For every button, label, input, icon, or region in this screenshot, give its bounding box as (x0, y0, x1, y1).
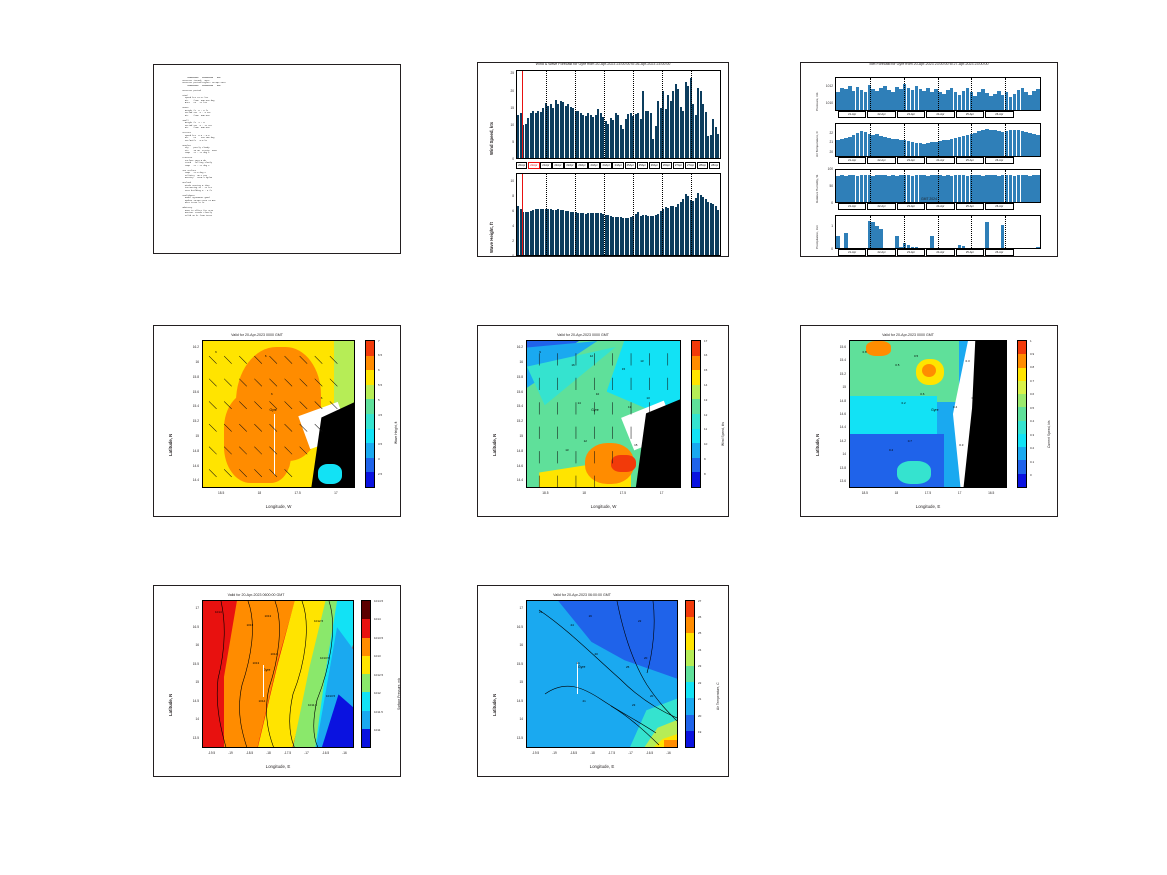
wind-wave-forecast-panel: Wind & Wave Forecast for Gyre from 20-Ap… (477, 62, 729, 257)
contour-label: 1013.5 (326, 694, 335, 698)
contour-label: 0.5 (914, 354, 918, 358)
map-xtick: -17.5 (603, 751, 621, 755)
met-daylabel: 26-Apr (985, 249, 1013, 256)
isobar-contours (203, 601, 353, 748)
day-label-2: 21Apr (540, 162, 551, 169)
map-xtick: -16 (660, 751, 678, 755)
day-separator (870, 216, 871, 248)
wave-map-xlabel: Longitude, W (202, 504, 355, 509)
forecast-bar (717, 210, 719, 255)
contour-label: 15 (622, 367, 625, 371)
map-ytick: 16.5 (496, 625, 523, 629)
colorbar-tick-label: 2.5 (378, 472, 382, 476)
colorbar-tick-label: 1012.5 (374, 673, 383, 677)
colorbar-swatch (686, 650, 694, 666)
now-marker-line-2 (522, 174, 523, 255)
axis-tick-label: 10 (478, 179, 514, 183)
contour-label: 1013 (253, 661, 260, 665)
axis-tick-label: 6 (478, 209, 514, 213)
axis-tick-label: 15 (478, 106, 514, 110)
day-separator (971, 78, 972, 110)
contour-label: 21 (577, 661, 580, 665)
day-label-4: 22Apr (564, 162, 575, 169)
colorbar-tick-label: 4 (378, 427, 380, 431)
wind-speed-axes (516, 70, 721, 159)
map-ytick: 13.5 (172, 736, 199, 740)
colorbar-swatch (366, 341, 374, 356)
met-ytick: 100 (801, 167, 833, 171)
colorbar-swatch (692, 356, 700, 371)
current-speed-colorbar (1017, 340, 1027, 488)
map-ytick: 14.5 (496, 699, 523, 703)
colorbar-swatch (366, 399, 374, 414)
day-separator (691, 71, 692, 158)
day-separator (870, 124, 871, 156)
colorbar-swatch (692, 370, 700, 385)
met-daylabel: 24-Apr (926, 203, 954, 210)
contour-label: 1013 (265, 614, 272, 618)
pressure-colorbar-title: Surface Pressure, mb (397, 678, 401, 710)
surface-pressure-colorbar (361, 600, 371, 748)
map-ytick: 14.6 (172, 464, 199, 468)
colorbar-swatch (692, 458, 700, 473)
map-xtick: -19 (546, 751, 564, 755)
wave-height-axes (516, 173, 721, 256)
wind-colorbar-title: Wind Speed, kts (721, 422, 725, 446)
wave-height-map-title: Valid for 20-Apr-2023 0000 GMT (164, 333, 350, 337)
colorbar-swatch (692, 443, 700, 458)
map-ytick: 16.2 (496, 345, 523, 349)
contour-label: 0.2 (889, 448, 893, 452)
met-ytick: 20 (801, 150, 833, 154)
map-xtick: 18.5 (856, 491, 874, 495)
day-label-9: 25Apr (625, 162, 636, 169)
map-ytick: 17 (172, 606, 199, 610)
colorbar-tick-label: 5.5 (378, 383, 382, 387)
colorbar-swatch (366, 356, 374, 371)
met-daylabel: 23-Apr (897, 111, 925, 118)
contour-label: 0.5 (895, 363, 899, 367)
map-ytick: 15.2 (172, 419, 199, 423)
colorbar-swatch (366, 472, 374, 487)
current-region-darkblue (850, 434, 944, 487)
met-daylabel: 21-Apr (838, 249, 866, 256)
pressure-map-xlabel: Longitude, E (202, 764, 354, 769)
forecast-bar (1001, 225, 1005, 248)
colorbar-swatch (366, 458, 374, 473)
colorbar-swatch (366, 414, 374, 429)
axis-tick-label: 4 (478, 224, 514, 228)
map-xtick: -17 (298, 751, 316, 755)
axis-tick-label: 20 (478, 89, 514, 93)
day-separator (904, 216, 905, 248)
day-separator (1005, 216, 1006, 248)
now-marker-line (522, 71, 523, 158)
map-xtick: 17.5 (289, 491, 307, 495)
met-ytick: 1012 (801, 84, 833, 88)
met-daylabel: 23-Apr (897, 249, 925, 256)
forecast-bar (879, 229, 883, 248)
axis-tick-label: 0 (478, 157, 514, 161)
map-ytick: 16 (496, 643, 523, 647)
forecast-bar (1036, 247, 1040, 248)
map-xtick: 18 (250, 491, 268, 495)
colorbar-swatch (1018, 447, 1026, 460)
colorbar-tick-label: 17 (704, 339, 707, 343)
colorbar-swatch (692, 414, 700, 429)
colorbar-tick-label: 24 (698, 648, 701, 652)
map-xtick: -18 (260, 751, 278, 755)
contour-label: 0.2 (901, 401, 905, 405)
forecast-bar (1036, 135, 1040, 156)
colorbar-swatch (686, 601, 694, 617)
met-daylabel: 21-Apr (838, 157, 866, 164)
temp-map-ylabel: Latitude, N (492, 694, 497, 716)
contour-label: 22 (638, 619, 641, 623)
map-xtick: -18 (584, 751, 602, 755)
map-xtick: 17.5 (614, 491, 632, 495)
colorbar-tick-label: 0.9 (1030, 352, 1034, 356)
day-separator (870, 170, 871, 202)
contour-label: 21 (583, 699, 586, 703)
map-ytick: 15.4 (496, 404, 523, 408)
colorbar-tick-label: 9 (704, 457, 706, 461)
current-region-orange (866, 341, 891, 356)
colorbar-tick-label: 0.2 (1030, 446, 1034, 450)
colorbar-swatch (1018, 354, 1026, 367)
colorbar-swatch (1018, 474, 1026, 487)
met-daylabel: 21-Apr (838, 203, 866, 210)
forecast-bar (717, 134, 719, 158)
contour-label: 13 (640, 359, 643, 363)
map-xtick: 18 (575, 491, 593, 495)
met-daylabel: 25-Apr (956, 157, 984, 164)
current-region-teal (897, 461, 931, 484)
map-xtick: -18.5 (241, 751, 259, 755)
current-speed-map-panel: Valid for 20-Apr-2023 0000 GMT Gyre 0.80… (800, 325, 1058, 517)
colorbar-swatch (686, 731, 694, 747)
map-ytick: 14.6 (819, 412, 846, 416)
colorbar-swatch (362, 619, 370, 637)
wind-wave-title: Wind & Wave Forecast for Gyre from 20-Ap… (478, 62, 728, 66)
report-body: ========= ========= === Forecast issued:… (180, 77, 390, 217)
colorbar-tick-label: 1 (1030, 339, 1032, 343)
axis-tick-label: 10 (478, 123, 514, 127)
wind-vector-arrows (203, 341, 354, 488)
map-ytick: 15.8 (496, 375, 523, 379)
colorbar-swatch (692, 472, 700, 487)
day-separator (904, 170, 905, 202)
met-daylabel: 24-Apr (926, 249, 954, 256)
day-separator (546, 174, 547, 255)
colorbar-swatch (362, 711, 370, 729)
met-daylabel: 22-Apr (867, 111, 895, 118)
colorbar-tick-label: 25 (698, 631, 701, 635)
colorbar-tick-label: 5 (378, 398, 380, 402)
axis-tick-label: 5 (478, 140, 514, 144)
colorbar-tick-label: 6 (378, 368, 380, 372)
surface-pressure-map-canvas: Gyre 101410141013.510131013.510141012.51… (202, 600, 354, 748)
met-forecast-title: Met Forecast for Gyre from 20-Apr-2023 2… (801, 62, 1057, 66)
colorbar-swatch (1018, 460, 1026, 473)
map-ytick: 14.2 (819, 439, 846, 443)
day-separator (904, 78, 905, 110)
day-separator (546, 71, 547, 158)
contour-label: 0.6 (920, 392, 924, 396)
colorbar-tick-label: 6.5 (378, 353, 382, 357)
colorbar-swatch (366, 385, 374, 400)
contour-label: 6 (265, 354, 267, 358)
met-annotation: GMT 2024 (921, 197, 937, 201)
met-forecast-panel: Met Forecast for Gyre from 20-Apr-2023 2… (800, 62, 1058, 257)
contour-label: 23 (632, 703, 635, 707)
colorbar-tick-label: 3 (378, 457, 380, 461)
contour-label: 0.6 (972, 396, 976, 400)
colorbar-tick-label: 1011 (374, 728, 380, 732)
wind-map-xlabel: Longitude, W (526, 504, 681, 509)
colorbar-tick-label: 1013.5 (374, 636, 383, 640)
contour-label: 20 (650, 694, 653, 698)
contour-label: 13 (646, 396, 649, 400)
map-ytick: 14.5 (172, 699, 199, 703)
colorbar-tick-label: 4.5 (378, 413, 382, 417)
colorbar-tick-label: 0.8 (1030, 365, 1034, 369)
surface-pressure-map-title: Valid for 20-Apr-2023 0600:00 GMT (164, 593, 348, 597)
colorbar-tick-label: 3.5 (378, 442, 382, 446)
met-ytick: 0 (801, 201, 833, 205)
contour-label: 1014 (215, 610, 222, 614)
air-temperature-colorbar (685, 600, 695, 748)
colorbar-tick-label: 16 (704, 353, 707, 357)
contour-label: 13 (628, 405, 631, 409)
wind-speed-map-canvas: Gyre 9101112131213141516131315 (526, 340, 681, 488)
colorbar-swatch (686, 682, 694, 698)
colorbar-swatch (686, 633, 694, 649)
colorbar-swatch (362, 601, 370, 619)
map-ytick: 14 (496, 717, 523, 721)
contour-label: 0.3 (959, 443, 963, 447)
met-subplot-axes-0 (835, 77, 1041, 111)
map-ytick: 16.2 (172, 345, 199, 349)
map-ytick: 13.5 (496, 736, 523, 740)
colorbar-tick-label: 8 (704, 472, 706, 476)
colorbar-tick-label: 1014.5 (374, 599, 383, 603)
forecast-bar (962, 246, 966, 248)
map-xtick: -19.5 (527, 751, 545, 755)
wind-speed-map-title: Valid for 20-Apr-2023 0000 GMT (488, 333, 678, 337)
day-separator (604, 71, 605, 158)
day-separator (938, 124, 939, 156)
map-ytick: 13.8 (819, 466, 846, 470)
forecast-bar (1036, 89, 1040, 110)
map-xtick: 17 (951, 491, 969, 495)
map-ytick: 15.5 (496, 662, 523, 666)
map-xtick: 16.5 (982, 491, 1000, 495)
day-separator (575, 71, 576, 158)
colorbar-swatch (366, 370, 374, 385)
colorbar-swatch (362, 729, 370, 747)
wind-speed-colorbar (691, 340, 701, 488)
day-label-3: 22Apr (552, 162, 563, 169)
map-ytick: 14.4 (496, 478, 523, 482)
contour-label: 0.7 (908, 439, 912, 443)
day-label-10: 25Apr (637, 162, 648, 169)
colorbar-tick-label: 0.7 (1030, 379, 1034, 383)
colorbar-tick-label: 11 (704, 427, 707, 431)
colorbar-tick-label: 1012 (374, 691, 381, 695)
met-daylabel: 21-Apr (838, 111, 866, 118)
colorbar-tick-label: 0.3 (1030, 433, 1034, 437)
contour-label: 11 (652, 434, 655, 438)
met-daylabel: 25-Apr (956, 249, 984, 256)
met-ylabel-2: Relative Humidity, % (815, 175, 819, 203)
day-separator (575, 174, 576, 255)
forecast-bar (915, 247, 919, 248)
met-daylabel: 22-Apr (867, 249, 895, 256)
colorbar-tick-label: 26 (698, 615, 701, 619)
map-xtick: 18.5 (212, 491, 230, 495)
contour-label: 24 (571, 623, 574, 627)
map-ytick: 16 (172, 360, 199, 364)
map-ytick: 14.8 (172, 449, 199, 453)
colorbar-swatch (692, 341, 700, 356)
contour-label: 12 (590, 354, 593, 358)
colorbar-swatch (1018, 407, 1026, 420)
forecast-bar (1036, 175, 1040, 202)
map-ytick: 15.4 (819, 358, 846, 362)
day-separator (938, 216, 939, 248)
current-colorbar-title: Current Speed, kts (1047, 421, 1051, 449)
day-label-1: 21Apr (528, 162, 539, 169)
map-ytick: 15.5 (172, 662, 199, 666)
contour-label: 1012.5 (314, 619, 323, 623)
day-label-11: 26Apr (649, 162, 660, 169)
colorbar-tick-label: 0.5 (1030, 406, 1034, 410)
contour-label: 0.8 (862, 350, 866, 354)
day-label-6: 23Apr (588, 162, 599, 169)
colorbar-tick-label: 12 (704, 413, 707, 417)
map-xtick: -16.5 (641, 751, 659, 755)
contour-label: 5 (327, 434, 329, 438)
wind-speed-map-panel: Valid for 20-Apr-2023 0000 GMT Gyre (477, 325, 729, 517)
air-temperature-map-canvas: Gyre 2120201920212221232425 (526, 600, 678, 748)
day-separator (1005, 170, 1006, 202)
map-ytick: 15.2 (819, 372, 846, 376)
day-separator (633, 71, 634, 158)
map-xtick: -19.5 (203, 751, 221, 755)
colorbar-swatch (362, 638, 370, 656)
colorbar-tick-label: 0 (1030, 473, 1032, 477)
wave-height-map-panel: Valid for 20-Apr-2023 0000 GMT Gyre 6 (153, 325, 401, 517)
contour-label: 20 (595, 652, 598, 656)
temp-colorbar-title: Air Temperature, C (716, 682, 720, 710)
forecast-report-page: ========= ========= === Forecast issued:… (0, 0, 1167, 875)
colorbar-tick-label: 1014 (374, 617, 381, 621)
colorbar-swatch (362, 656, 370, 674)
colorbar-tick-label: 7 (378, 339, 380, 343)
day-label-7: 24Apr (600, 162, 611, 169)
day-separator (1005, 78, 1006, 110)
contour-label: 1013.5 (320, 656, 329, 660)
day-separator (662, 174, 663, 255)
air-temperature-map-panel: Valid for 20-Apr-2023 06:00:00 GMT Gyre … (477, 585, 729, 777)
contour-label: 14 (577, 401, 580, 405)
colorbar-swatch (1018, 394, 1026, 407)
contour-label: 1014 (259, 699, 266, 703)
met-daylabel: 25-Apr (956, 203, 984, 210)
day-separator (971, 170, 972, 202)
map-ytick: 16 (496, 360, 523, 364)
met-daylabel: 24-Apr (926, 111, 954, 118)
wave-colorbar-title: Wave Height, ft (394, 422, 398, 444)
colorbar-tick-label: 15 (704, 368, 707, 372)
colorbar-tick-label: 1013 (374, 654, 381, 658)
map-ytick: 14 (172, 717, 199, 721)
map-xtick: -17.5 (279, 751, 297, 755)
axis-tick-label: 2 (478, 239, 514, 243)
isotherm-contours (527, 601, 677, 748)
met-ytick: 22 (801, 131, 833, 135)
colorbar-swatch (1018, 381, 1026, 394)
contour-label: 19 (589, 614, 592, 618)
axis-tick-label: 8 (478, 194, 514, 198)
colorbar-swatch (686, 698, 694, 714)
day-separator (904, 124, 905, 156)
wave-height-colorbar (365, 340, 375, 488)
met-daylabel: 26-Apr (985, 111, 1013, 118)
map-ytick: 15.4 (172, 404, 199, 408)
colorbar-tick-label: 0.6 (1030, 392, 1034, 396)
colorbar-tick-label: 14 (704, 383, 707, 387)
map-ytick: 15.6 (496, 390, 523, 394)
wind-speed-ylabel: Wind Speed, kts (489, 122, 494, 155)
colorbar-swatch (1018, 341, 1026, 354)
met-subplot-axes-2 (835, 169, 1041, 203)
day-separator (691, 174, 692, 255)
forecast-bar (836, 236, 840, 248)
contour-label: 0.4 (953, 405, 957, 409)
contour-label: 13 (565, 448, 568, 452)
colorbar-swatch (1018, 434, 1026, 447)
forecast-bar (844, 233, 848, 248)
colorbar-tick-label: 0.4 (1030, 419, 1034, 423)
map-ytick: 16 (172, 643, 199, 647)
map-ytick: 16.5 (172, 625, 199, 629)
map-xtick: 17.5 (919, 491, 937, 495)
colorbar-tick-label: 20 (698, 714, 701, 718)
contour-label: 6 (215, 350, 217, 354)
surface-pressure-map-panel: Valid for 20-Apr-2023 0600:00 GMT Gyre 1… (153, 585, 401, 777)
gyre-marker: Gyre (931, 408, 938, 412)
wind-speed-bars (517, 71, 720, 158)
met-subplot-axes-3 (835, 215, 1041, 249)
met-daylabel: 23-Apr (897, 157, 925, 164)
map-xtick: -17 (622, 751, 640, 755)
colorbar-swatch (362, 692, 370, 710)
contour-label: 0.4 (978, 434, 982, 438)
colorbar-tick-label: 22 (698, 681, 701, 685)
day-separator (971, 216, 972, 248)
met-ytick: 50 (801, 184, 833, 188)
met-subplot-axes-1 (835, 123, 1041, 157)
contour-label: 6 (271, 392, 273, 396)
day-label-0: 20Apr (516, 162, 527, 169)
colorbar-tick-label: 23 (698, 664, 701, 668)
map-ytick: 15 (496, 434, 523, 438)
met-ytick: 1010 (801, 101, 833, 105)
day-separator (870, 78, 871, 110)
forecast-bar (985, 222, 989, 248)
